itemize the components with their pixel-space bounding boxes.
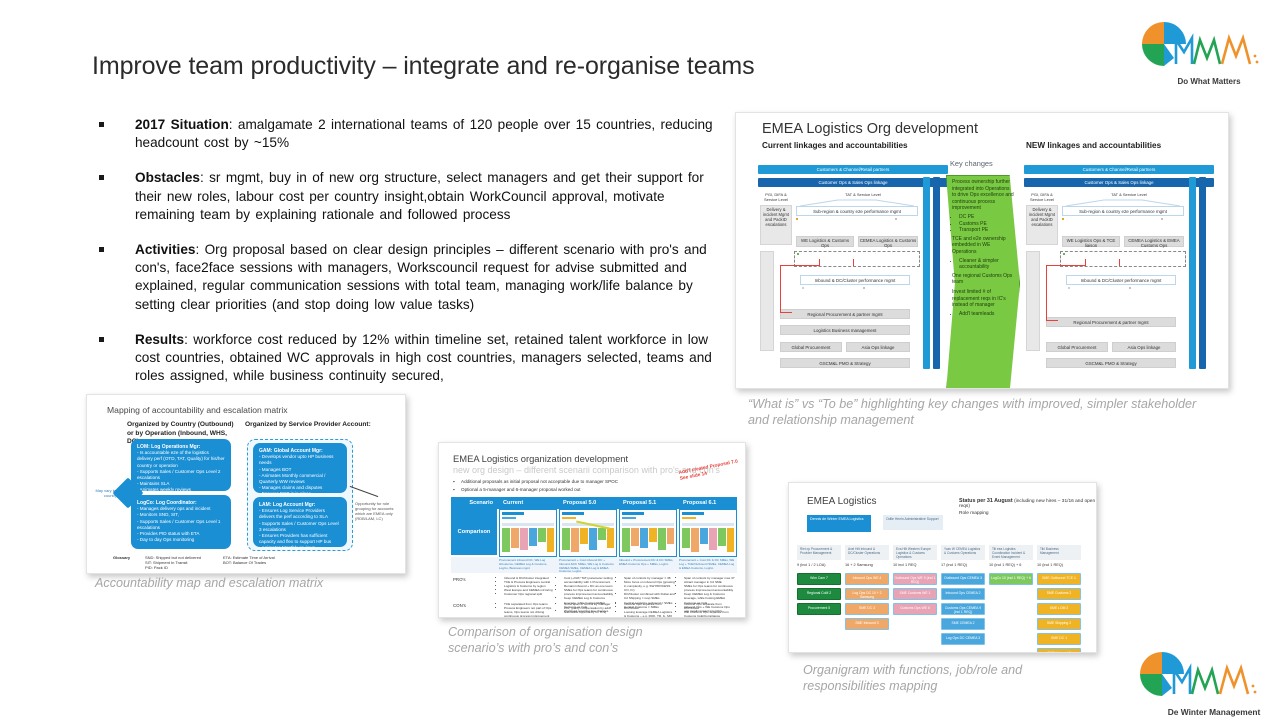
bullet-text: : Org proposal based on clear design pri… [135, 242, 707, 312]
caption-comparison: Comparison of organisation design scenar… [448, 624, 698, 657]
role-line: - Manages delivery ops and incident [137, 506, 211, 511]
role-box-lam: LAM: Log Account Mgr: - Ensures Log Serv… [253, 497, 347, 547]
box-we-logistics: WE Logistics Ops & TCE liaison [1062, 236, 1120, 247]
organigram-col-head-1: Axel Hilt Inbound & DC/Cluster Operation… [845, 545, 889, 560]
box-gscmbl: GSCM&L PMO & Strategy [780, 358, 910, 368]
glossary-label: Glossary [113, 555, 130, 560]
role-line: - Is accountable e2e of the logistics de… [137, 450, 225, 467]
role-line: - Manages BOT [259, 467, 291, 472]
bullet-text: : workforce cost reduced by 12% within t… [135, 332, 712, 383]
ops-cells [1068, 287, 1128, 302]
box-logistics-business: Logistics Business management [780, 325, 910, 335]
comparison-bullet-1: ▪Additional proposals as initial proposa… [461, 479, 711, 484]
role-title: LAM: Log Account Mgr: [259, 502, 315, 508]
caption-organigram: Organigram with functions, job/role and … [803, 662, 1093, 695]
role-box-logco: LogCo: Log Coordinator: - Manages delive… [131, 495, 231, 549]
box-cemea-logistics: CEMEA Logistics & Customs Ops [858, 236, 918, 247]
bullet-lead: Obstacles [135, 170, 200, 185]
box-we-logistics: WE Logistics & Customs Ops [796, 236, 854, 247]
box-asia-ops: Asia Ops linkage [846, 342, 910, 352]
region-cells [1161, 218, 1184, 234]
row-label-comparison: Comparison [451, 509, 497, 555]
label-pgi: PGI, DIFA & Service Level [1026, 192, 1058, 202]
dc-cells [863, 287, 909, 302]
organigram-col-count-0: 9 (incl 1 / 2 LOA) [797, 563, 826, 567]
role-line: - Ensures BCP is in place [259, 491, 311, 496]
org-dev-current-column: Customers & Channel/Retail partners Cust… [758, 165, 948, 383]
bullet-lead: 2017 Situation [135, 117, 229, 132]
link-text-p61: Procurement + Cost DC & DC SMEs, WE Log … [679, 559, 735, 570]
box-asia-ops: Asia Ops linkage [1112, 342, 1176, 352]
caption-accountability: Accountability map and escalation matrix [95, 575, 425, 591]
role-line: - Develops vendor upto HP business needs [259, 454, 333, 465]
country-cells [1062, 218, 1160, 234]
dwm-logo-top-mark [1130, 18, 1276, 80]
bullet-text: : sr mgmt, buy in of new org structure, … [135, 170, 704, 221]
box-subregion: Sub-region & country e2e performance mgm… [796, 206, 918, 216]
org-node: SME Outbound TCE 1 [1037, 573, 1081, 585]
carrier-cells [1063, 253, 1183, 265]
box-inbound: Inbound & DC/Cluster performance mgmt [800, 275, 910, 285]
accountability-title: Mapping of accountability and escalation… [107, 405, 288, 415]
bar-customers: Customers & Channel/Retail partners [1024, 165, 1214, 174]
bar-customer-ops: Customer Ops & Sales Ops linkage [758, 178, 948, 187]
cons-cell-current: TCE separated from Ops teamsProcess Engi… [499, 602, 555, 617]
org-node: LogCo 10 (incl 1 REQ) + 6 [989, 573, 1033, 585]
slide: Do What Matters De Winter Management Imp… [0, 0, 1280, 720]
organigram-col-count-1: 16 + 2 Samsung [845, 563, 873, 567]
comparison-title: EMEA Logistics organization development [453, 453, 628, 464]
box-cemea-logistics: CEMEA Logistics & EMEA Customs Ops [1124, 236, 1184, 247]
org-node: Regional CoM 2 [797, 588, 841, 600]
key-changes-title: Key changes [950, 159, 993, 168]
role-line: - Provides PID status with ETA [137, 531, 199, 536]
row-label-cons: CON's [453, 603, 466, 608]
org-node: Log Ops DC 10 + 2 Samsung [845, 588, 889, 600]
role-line: - Animates Monthly reviews [259, 545, 315, 550]
organigram-top-box: Dennis de Winter EMEA Logistics [807, 515, 871, 532]
ops-cells [802, 287, 862, 302]
org-node: Inbound Ops CEMEA 2 [941, 588, 985, 600]
organigram-col-count-3: 17 (incl 1 REQ) [941, 563, 967, 567]
organigram-top-box-2: Odile Henin Administrative Support [883, 515, 943, 530]
dc-cells [1129, 287, 1175, 302]
row-label-pros: PRO's [453, 577, 466, 582]
col-head-p50: Proposal 5.0 [559, 497, 596, 509]
role-title: GAM: Global Account Mgr: [259, 448, 323, 454]
role-line: - Manages claims and disputes [259, 485, 322, 490]
diamond-note: May vary by country [93, 488, 117, 498]
link-text-p51: Inbound + Procurement DC & DC SMEs, EMEA… [619, 559, 675, 567]
org-node: SME DC 3 [845, 603, 889, 615]
label-tat: TAT & Service Level [1104, 192, 1154, 197]
box-regional-procurement: Regional Procurement & partner mgmt [1046, 317, 1176, 327]
col-head-scenario: Scenario [451, 497, 497, 509]
image-comparison[interactable]: EMEA Logistics organization development … [438, 442, 746, 618]
role-title: LogCo: Log Coordinator: [137, 500, 197, 506]
accountability-right-heading: Organized by Service Provider Account: [245, 421, 373, 430]
organigram-col-count-4: 10 (incl 1 REQ) + 6 [989, 563, 1021, 567]
key-changes-body: Process ownership further integrated int… [952, 179, 1014, 319]
bullet-lead: Activities [135, 242, 195, 257]
org-node: SME LOM 2 [1037, 603, 1081, 615]
region-cells [895, 218, 918, 234]
org-node: SME Shipping 2 [1037, 618, 1081, 630]
role-box-gam: GAM: Global Account Mgr: - Develops vend… [253, 443, 347, 493]
bullet-item-situation: 2017 Situation: amalgamate 2 internation… [95, 116, 727, 152]
organigram-col-head-0: Riet op Procurement & Provider Managemen… [797, 545, 841, 560]
role-line: - Ensures Log Service Providers delivers… [259, 508, 328, 519]
org-node: SME Customs WE 1 [893, 588, 937, 600]
box-global-procurement: Global Procurement [780, 342, 842, 352]
bar-customer-ops: Customer Ops & Sales Ops linkage [1024, 178, 1214, 187]
dwm-logo-bottom: De Winter Management [1128, 652, 1280, 718]
dwm-logo-top: Do What Matters [1130, 18, 1276, 80]
org-dev-right-heading: NEW linkages and accountabilities [1026, 141, 1161, 150]
image-org-development[interactable]: EMEA Logistics Org development Current l… [735, 112, 1229, 389]
org-node: SME Inbound 2 [1037, 648, 1081, 652]
org-node: Procurement 5 [797, 603, 841, 615]
role-line: - Ensures Providers has sufficient capac… [259, 533, 331, 544]
cons-cell-p61: Inbound Ops separate from DC/ClusterWE C… [679, 602, 735, 617]
bullet-item-results: Results: workforce cost reduced by 12% w… [95, 331, 727, 386]
thumb-current [499, 509, 557, 557]
link-text-current: Procurement inbound DC, WE Log &Customs,… [499, 559, 555, 570]
organigram-col-head-2: Eva Hilt Western Europe Logistics & Cust… [893, 545, 937, 560]
role-line: - Animates Monthly commercial / Quarterl… [259, 473, 325, 484]
organigram-role-mapping: Role mapping [959, 511, 989, 516]
org-dev-left-heading: Current linkages and accountabilities [762, 141, 908, 150]
bullet-list: 2017 Situation: amalgamate 2 internation… [95, 116, 727, 402]
role-box-lom: LOM: Log Operations Mgr: - Is accountabl… [131, 439, 231, 491]
col-head-current: Current [499, 497, 523, 509]
comparison-header-row: Scenario Current Proposal 5.0 Proposal 5… [451, 497, 737, 509]
organigram-title: EMEA Logistics [807, 496, 876, 507]
box-delivery: Delivery & incident Mgmt and PackID esca… [760, 205, 792, 245]
bar-customers: Customers & Channel/Retail partners [758, 165, 948, 174]
glossary-col1: SND: Shipped but not delivered SIT: Ship… [145, 555, 220, 570]
org-dev-title: EMEA Logistics Org development [762, 121, 978, 137]
organigram-status: Status per 31 August (including new hire… [959, 498, 1096, 509]
page-title: Improve team productivity – integrate an… [92, 52, 852, 81]
caption-org-development: “What is” vs “To be” highlighting key ch… [748, 396, 1218, 429]
box-subregion: Sub-region & country e2e performance mgm… [1062, 206, 1184, 216]
org-node: Log Ops DC CEMEA 3 [941, 633, 985, 645]
org-node: Customs Ops WE 6 [893, 603, 937, 615]
role-line: - Monitors SND, SIT, [137, 512, 179, 517]
image-accountability-map[interactable]: Mapping of accountability and escalation… [86, 394, 406, 574]
bullet-lead: Results [135, 332, 184, 347]
organigram-col-count-2: 10 incl 1 REQ [893, 563, 916, 567]
role-line: - Supports Sales / Customer Ops Level 2 … [137, 469, 221, 480]
org-node: Outbound Ops CEMEA 3 [941, 573, 985, 585]
glossary-col2: ETA: Estimate Time of Arrival BOT: Balan… [223, 555, 303, 565]
role-line: - Supports Sales / Customer Ops Level 3 … [259, 521, 339, 532]
box-global-procurement: Global Procurement [1046, 342, 1108, 352]
role-line: - Day to day Ops monitoring [137, 537, 194, 542]
organigram-col-count-5: 10 (incl 1 REQ) [1037, 563, 1063, 567]
thumb-p50 [559, 509, 617, 557]
organigram-col-head-5: Tikl Business Management [1037, 545, 1081, 560]
bullet-item-obstacles: Obstacles: sr mgmt, buy in of new org st… [95, 169, 727, 224]
org-node: Inbound Ops WE 4 [845, 573, 889, 585]
dwm-logo-bottom-tagline: De Winter Management [1148, 707, 1280, 717]
box-gscmbl: GSCM&L PMO & Strategy [1046, 358, 1176, 368]
bullet-marker-icon [99, 337, 104, 342]
image-organigram[interactable]: EMEA Logistics Status per 31 August (inc… [788, 482, 1097, 653]
org-node: SME Customs 2 [1037, 588, 1081, 600]
org-node: Customs Ops CEMEA 9 (incl 1 REQ) [941, 603, 985, 615]
bullet-marker-icon [99, 122, 104, 127]
country-cells [796, 218, 894, 234]
col-head-p51: Proposal 5.1 [619, 497, 656, 509]
label-pgi: PGI, DIFA & Service Level [760, 192, 792, 202]
carrier-cells [797, 253, 917, 265]
comparison-bullet-2: ▪Optional a 5-manager and 6-manager prop… [461, 487, 711, 492]
role-title: LOM: Log Operations Mgr: [137, 444, 200, 450]
organigram-col-head-3: Yoav W CEMEA Logistics & Customs Operati… [941, 545, 985, 560]
thumb-p51 [619, 509, 677, 557]
role-line: - Animates weekly reviews [137, 487, 191, 492]
cons-cell-p51: Inbound Ops separate from DC/ClusterLoos… [619, 602, 675, 617]
pros-cell-current: Inbound & DC/Cluster integratedTCE & Pro… [499, 576, 555, 596]
cons-cell-p50: Some span of control by manager 20+, (pa… [559, 602, 615, 614]
organigram-col-head-4: Tilt eea Logistics Coordination Incident… [989, 545, 1033, 560]
role-line: - Maintains SLA [137, 481, 169, 486]
thumb-p61 [679, 509, 737, 557]
org-node: SME DC 1 [1037, 633, 1081, 645]
bullet-item-activities: Activities: Org proposal based on clear … [95, 241, 727, 314]
col-head-p61: Proposal 6.1 [679, 497, 716, 509]
label-tat: TAT & Service Level [838, 192, 888, 197]
org-node: SME CEMEA 2 [941, 618, 985, 630]
role-line: - Supports Sales / Customer Ops Level 1 … [137, 519, 221, 530]
link-text-p50: Procurement + Cost inbound DC + Inbound … [559, 559, 615, 574]
bullet-marker-icon [99, 247, 104, 252]
org-dev-new-column: Customers & Channel/Retail partners Cust… [1024, 165, 1214, 383]
side-note: Opportunity for role grouping for accoun… [355, 501, 399, 521]
box-regional-procurement: Regional Procurement & partner mgmt [780, 309, 910, 319]
bullet-marker-icon [99, 175, 104, 180]
org-node: SME Inbound 3 [845, 618, 889, 630]
org-node: Outbound Ops WE 9 (incl 1 REQ) [893, 573, 937, 585]
org-node: Wim Cam 7 [797, 573, 841, 585]
box-inbound: Inbound & DC/Cluster performance mgmt [1066, 275, 1176, 285]
dwm-logo-bottom-mark [1128, 652, 1280, 712]
box-delivery: Delivery & incident Mgmt and PackID esca… [1026, 205, 1058, 245]
